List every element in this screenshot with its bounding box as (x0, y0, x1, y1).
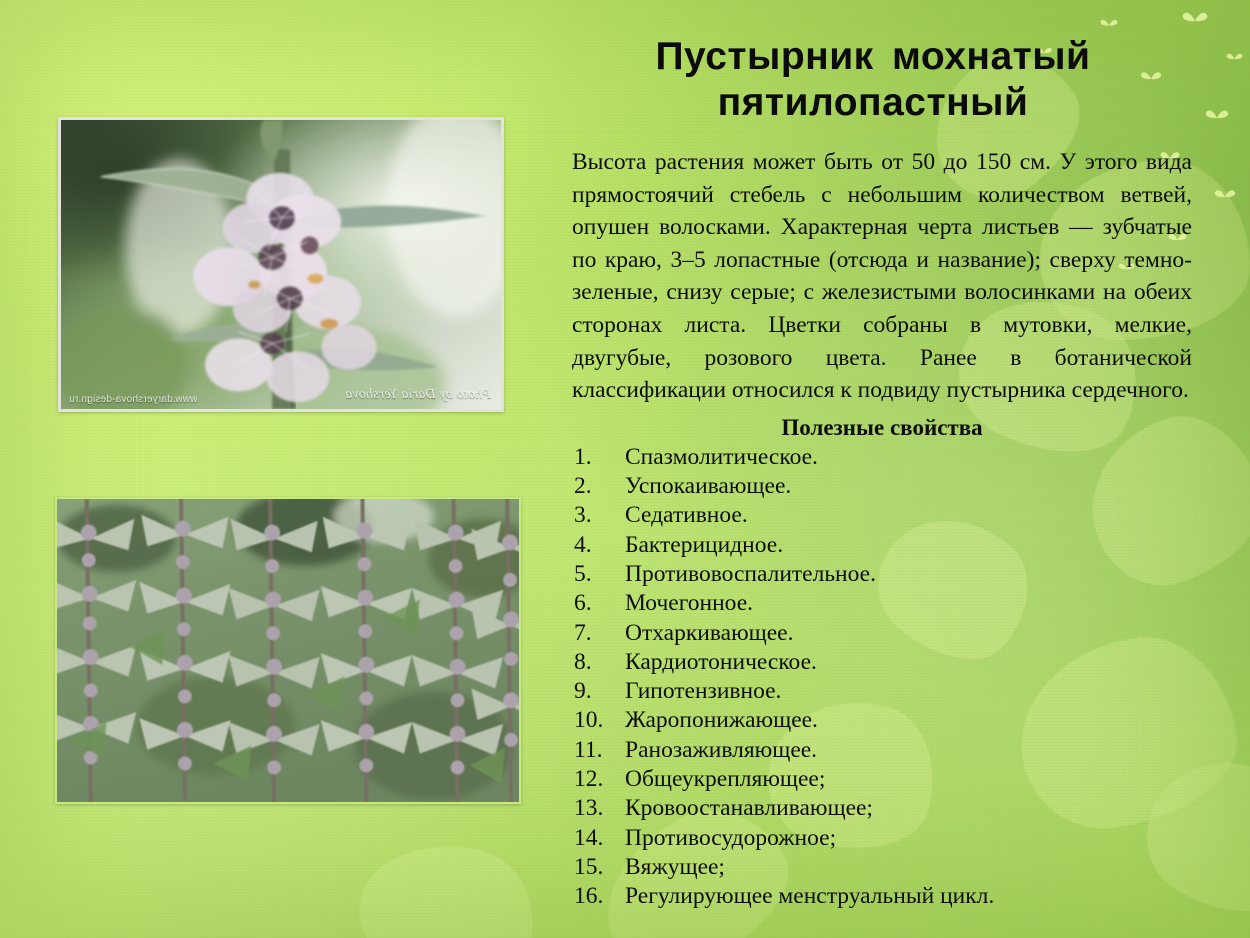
list-item: Вяжущее; (572, 853, 1192, 882)
list-item: Отхаркивающее. (572, 619, 1192, 648)
photo-watermark-signature: Photo by Daria Yershova (345, 387, 491, 403)
butterfly-icon (1182, 10, 1208, 32)
photo-bottom-artwork (57, 499, 519, 802)
list-item: Противовоспалительное. (572, 560, 1192, 589)
list-item: Кардиотоническое. (572, 648, 1192, 677)
page-title: Пустырник мохнатый пятилопастный (537, 34, 1209, 126)
photo-watermark-url: www.daryershova-design.ru (69, 394, 197, 405)
list-item: Гипотензивное. (572, 677, 1192, 706)
photo-motherwort-field (55, 497, 521, 804)
list-item: Жаропонижающее. (572, 706, 1192, 735)
list-item: Регулирующее менструальный цикл. (572, 882, 1192, 911)
list-item: Кровоостанавливающее; (572, 794, 1192, 823)
butterfly-icon (1100, 18, 1118, 33)
text-column: Пустырник мохнатый пятилопастный Высота … (537, 34, 1209, 912)
list-item: Бактерицидное. (572, 531, 1192, 560)
properties-heading: Полезные свойства (572, 415, 1192, 441)
photo-top-artwork (61, 120, 501, 409)
list-item: Спазмолитическое. (572, 443, 1192, 472)
slide-root: www.daryershova-design.ru Photo by Daria… (0, 0, 1250, 938)
list-item: Мочегонное. (572, 589, 1192, 618)
page-title-line-1: Пустырник мохнатый (655, 35, 1090, 78)
butterfly-icon (1214, 188, 1236, 206)
page-title-line-2: пятилопастный (718, 81, 1029, 124)
butterfly-icon (1226, 52, 1243, 66)
list-item: Противосудорожное; (572, 824, 1192, 853)
properties-list: Спазмолитическое. Успокаивающее. Седатив… (572, 443, 1192, 912)
description-paragraph: Высота растения может быть от 50 до 150 … (572, 146, 1192, 407)
list-item: Седативное. (572, 501, 1192, 530)
list-item: Общеукрепляющее; (572, 765, 1192, 794)
list-item: Ранозаживляющее. (572, 736, 1192, 765)
list-item: Успокаивающее. (572, 472, 1192, 501)
photo-motherwort-flower-closeup: www.daryershova-design.ru Photo by Daria… (58, 117, 504, 412)
